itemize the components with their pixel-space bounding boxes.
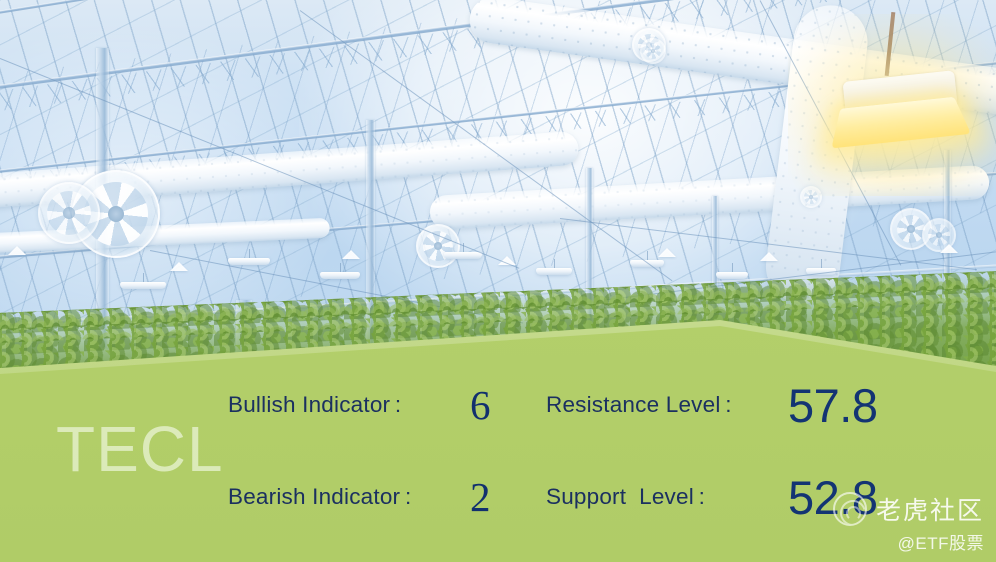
circulation-fan-icon [38,182,100,244]
metric-label-resistance-level: Resistance Level : [546,394,774,417]
grow-lamp-icon [940,244,958,253]
grow-lamp-icon [228,258,270,265]
grow-lamp-icon [170,262,188,271]
metric-label-support-level: Support Level : [546,486,774,509]
grow-lamp-icon [342,250,360,259]
circulation-fan-icon [640,38,666,64]
grow-lamp-icon [8,246,26,255]
grow-lamp-icon [120,282,166,289]
grow-lamp-icon [760,252,778,261]
watermark-title: 老虎社区 [876,491,984,527]
ticker-watermark: TECL [56,412,224,486]
tiger-swirl-icon [833,492,867,526]
metrics-grid: Bullish Indicator : 6 Resistance Level :… [228,374,888,528]
grow-lamp-icon [658,248,676,257]
grow-lamp-icon [716,272,748,279]
metric-label-bearish-indicator: Bearish Indicator : [228,486,456,509]
metric-value-bullish-indicator: 6 [456,385,546,426]
grow-lamp-icon [320,272,360,279]
circulation-fan-icon [416,224,460,268]
metric-value-bearish-indicator: 2 [456,477,546,518]
grow-lamp-icon [830,42,970,154]
watermark-handle: @ETF股票 [833,529,984,554]
grow-lamp-icon [536,268,572,275]
metric-value-resistance-level: 57.8 [774,382,888,429]
metric-label-bullish-indicator: Bullish Indicator : [228,394,456,417]
brand-watermark: 老虎社区 @ETF股票 [833,491,984,554]
grow-lamp-icon [444,252,482,259]
slide-canvas: TECL Bullish Indicator : 6 Resistance Le… [0,0,996,562]
